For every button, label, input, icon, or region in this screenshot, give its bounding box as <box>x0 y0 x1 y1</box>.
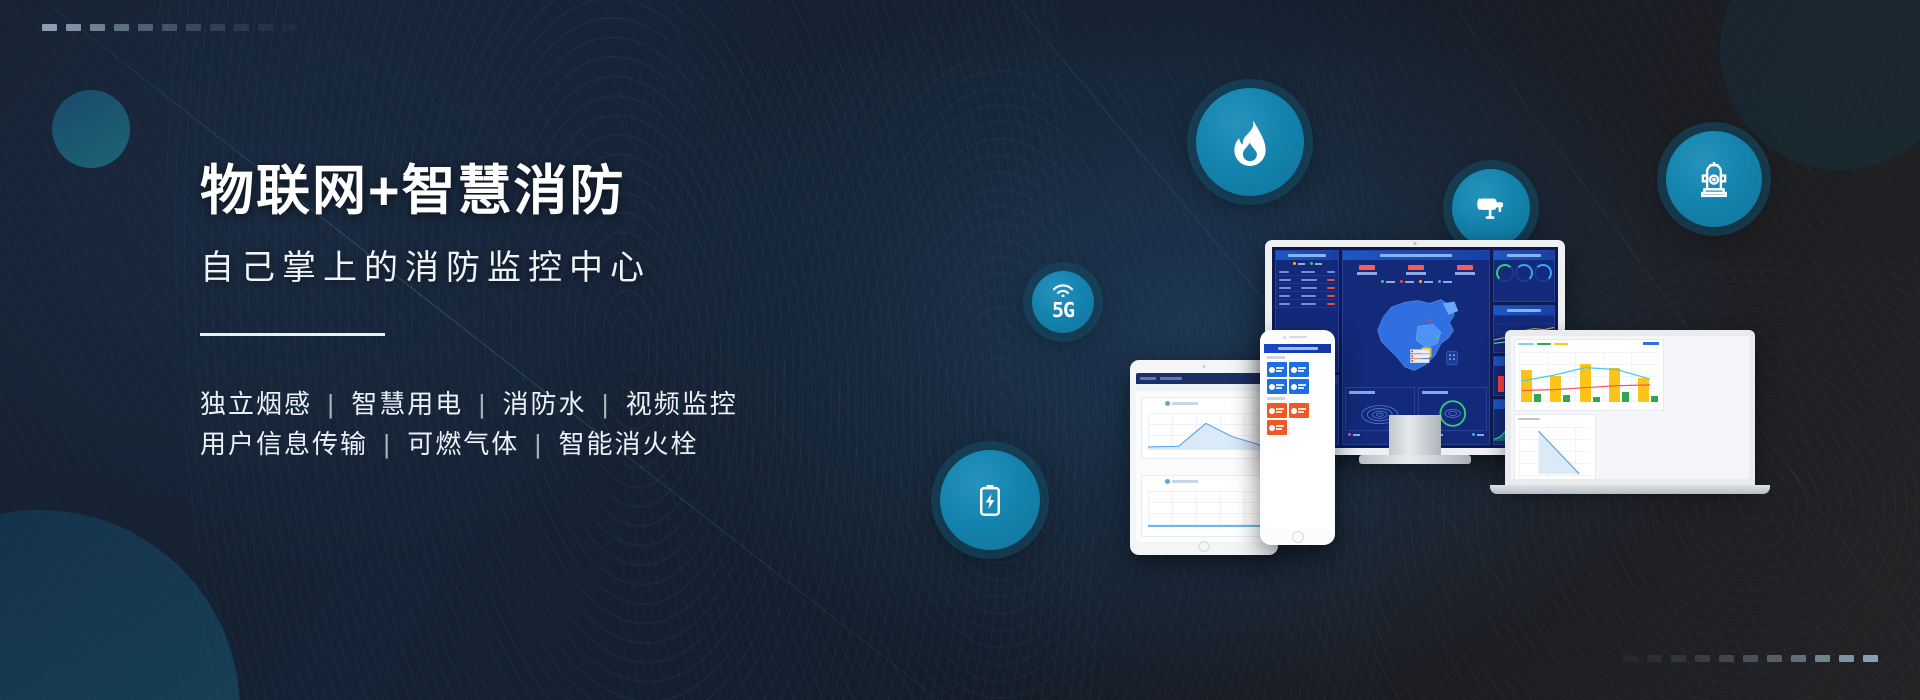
panel-header <box>1494 251 1554 260</box>
laptop-descending-area-chart <box>1519 427 1591 478</box>
phone-section-label <box>1267 356 1328 361</box>
hero-copy-block: 物联网+智慧消防 自己掌上的消防监控中心 独立烟感 | 智慧用电 | 消防水 |… <box>200 160 960 465</box>
monitor-base <box>1359 455 1471 464</box>
china-map-visualization <box>1357 288 1475 384</box>
feature-row: 用户信息传输 | 可燃气体 | 智能消火栓 <box>200 424 960 464</box>
tablet-area-chart <box>1148 413 1262 450</box>
laptop-overlay-lines <box>1520 360 1658 402</box>
gauge-ring <box>1496 264 1514 282</box>
tablet-camera-icon <box>1203 365 1206 368</box>
phone-tile-grid-orange <box>1264 403 1331 435</box>
feature-list: 独立烟感 | 智慧用电 | 消防水 | 视频监控 用户信息传输 | 可燃气体 |… <box>200 384 960 465</box>
tablet-screen <box>1136 373 1272 542</box>
phone-screen <box>1264 344 1331 529</box>
tablet-device <box>1130 360 1278 555</box>
kpi-item <box>1406 265 1426 275</box>
feature-separator: | <box>596 389 617 419</box>
tablet-chart-grid-2 <box>1148 491 1262 528</box>
dashboard-gauges-panel <box>1493 250 1555 302</box>
title-divider <box>200 333 385 336</box>
page-subtitle: 自己掌上的消防监控中心 <box>200 240 960 289</box>
page-title: 物联网+智慧消防 <box>200 160 960 222</box>
tablet-subheader <box>1136 384 1272 391</box>
phone-speaker <box>1289 336 1307 338</box>
hero-banner: 物联网+智慧消防 自己掌上的消防监控中心 独立烟感 | 智慧用电 | 消防水 |… <box>0 0 1920 700</box>
tablet-chart-panel <box>1141 397 1267 459</box>
phone-header-bar <box>1264 344 1331 353</box>
gauge-ring <box>1534 264 1552 282</box>
list-item[interactable] <box>1267 362 1287 377</box>
device-mockup-group <box>1105 280 1805 580</box>
phone-camera-icon <box>1283 336 1286 339</box>
gauge-row <box>1494 260 1554 286</box>
phone-section-label-2 <box>1267 397 1328 402</box>
tablet-home-button[interactable] <box>1199 541 1210 552</box>
laptop-screen <box>1511 336 1749 479</box>
flame-icon-badge <box>1196 88 1304 196</box>
cctv-camera-icon <box>1472 189 1510 227</box>
feature-item: 智能消火栓 <box>559 429 699 459</box>
laptop-device <box>1505 330 1755 505</box>
list-item[interactable] <box>1267 420 1287 435</box>
fire-hydrant-icon-badge <box>1666 131 1762 227</box>
card-header <box>1515 340 1663 348</box>
list-item[interactable] <box>1289 362 1309 377</box>
feature-item: 视频监控 <box>626 389 738 419</box>
list-item[interactable] <box>1289 379 1309 394</box>
laptop-lid <box>1505 330 1755 485</box>
table-row[interactable] <box>1276 300 1338 308</box>
card-tab[interactable] <box>1643 342 1659 345</box>
feature-item: 可燃气体 <box>407 429 519 459</box>
tablet-chart-title-2 <box>1172 480 1198 483</box>
laptop-area-chart-card <box>1514 414 1596 479</box>
panel-title <box>1422 391 1448 394</box>
feature-separator: | <box>473 389 494 419</box>
feature-item: 消防水 <box>503 389 587 419</box>
feature-item: 用户信息传输 <box>200 429 368 459</box>
alarm-table-body <box>1276 268 1338 308</box>
phone-tile-grid-blue <box>1264 362 1331 394</box>
dash-decoration-top-left <box>42 24 297 31</box>
kpi-item <box>1357 265 1377 275</box>
panel-header <box>1276 251 1338 260</box>
monitor-stand <box>1389 415 1441 457</box>
china-map-icon <box>1357 288 1475 384</box>
flame-icon <box>1225 117 1275 167</box>
panel-title <box>1349 391 1375 394</box>
kpi-row <box>1343 260 1489 278</box>
tablet-chart-panel-2 <box>1141 475 1267 537</box>
feature-item: 智慧用电 <box>351 389 463 419</box>
5g-label: 5G <box>1052 300 1074 320</box>
table-row[interactable] <box>1276 276 1338 284</box>
5g-signal-icon-badge: 5G <box>1032 271 1094 333</box>
list-item[interactable] <box>1267 403 1287 418</box>
phone-device <box>1260 330 1335 545</box>
decorative-circle-small <box>52 90 130 168</box>
feature-separator: | <box>377 429 398 459</box>
fire-hydrant-icon <box>1691 156 1737 202</box>
tablet-chart-title <box>1172 402 1198 405</box>
panel-header <box>1343 251 1489 260</box>
table-row[interactable] <box>1276 268 1338 276</box>
table-row[interactable] <box>1276 284 1338 292</box>
wifi-arc-icon <box>1051 284 1075 297</box>
panel-legend <box>1276 260 1338 268</box>
feature-row: 独立烟感 | 智慧用电 | 消防水 | 视频监控 <box>200 384 960 424</box>
cctv-camera-icon-badge <box>1452 169 1530 247</box>
list-item[interactable] <box>1289 403 1309 418</box>
card-header <box>1515 415 1595 423</box>
panel-header <box>1494 306 1554 315</box>
feature-item: 独立烟感 <box>200 389 312 419</box>
tablet-header-bar <box>1136 373 1272 384</box>
table-row[interactable] <box>1276 292 1338 300</box>
feature-separator: | <box>321 389 342 419</box>
laptop-base <box>1490 485 1770 494</box>
battery-bolt-icon-badge <box>940 450 1040 550</box>
monitor-camera-icon <box>1414 242 1417 245</box>
map-legend <box>1343 278 1489 286</box>
laptop-bar-chart-card <box>1514 339 1664 411</box>
gauge-ring <box>1515 264 1533 282</box>
dash-decoration-bottom-right <box>1623 655 1878 662</box>
list-item[interactable] <box>1267 379 1287 394</box>
tablet-flat-line <box>1148 525 1261 527</box>
kpi-item <box>1455 265 1475 275</box>
feature-separator: | <box>529 429 550 459</box>
phone-home-button[interactable] <box>1292 531 1304 543</box>
battery-bolt-icon <box>969 479 1011 521</box>
